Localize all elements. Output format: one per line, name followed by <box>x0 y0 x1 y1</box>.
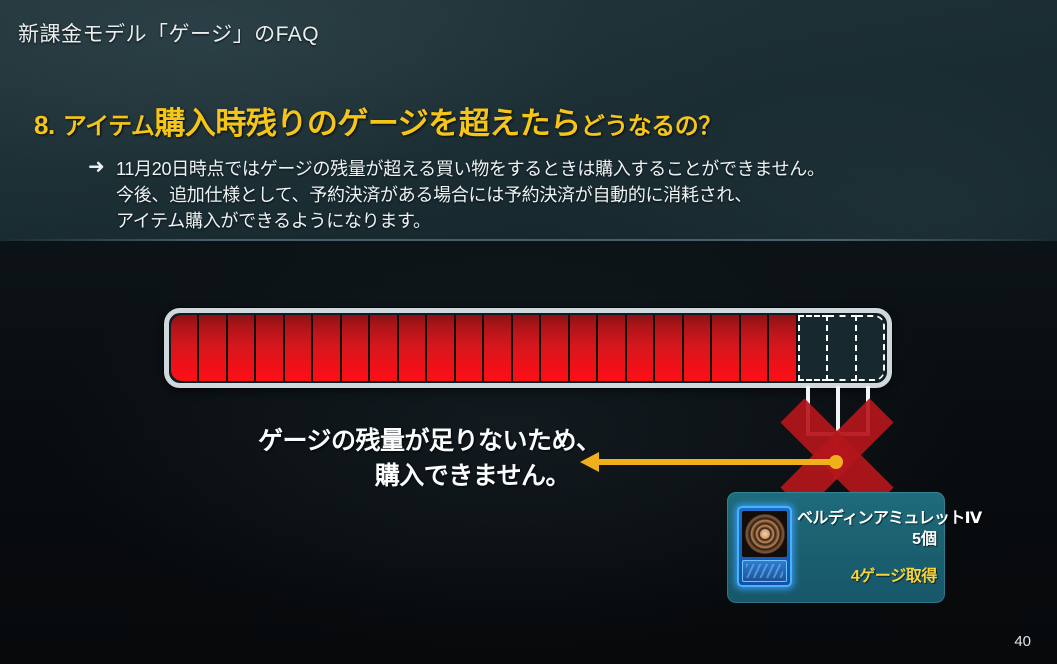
item-card[interactable]: ベルディンアミュレットⅣ 5個 4ゲージ取得 <box>727 492 945 603</box>
callout-line: 購入できません。 <box>258 459 570 494</box>
answer-line: 11月20日時点ではゲージの残量が超える買い物をするときは購入することができませ… <box>116 156 888 182</box>
gauge-segment-filled <box>256 315 284 381</box>
gauge-bar <box>164 308 892 388</box>
gauge-segment-filled <box>484 315 512 381</box>
gauge-segment-empty <box>798 315 828 381</box>
gauge-segment-filled <box>570 315 598 381</box>
page-title: 新課金モデル「ゲージ」のFAQ <box>18 18 319 48</box>
answer-lines: 11月20日時点ではゲージの残量が超える買い物をするときは購入することができませ… <box>116 156 888 234</box>
gauge-segment-filled <box>228 315 256 381</box>
amulet-card-icon-plate <box>742 560 787 582</box>
arrow-right-icon: ➜ <box>88 157 105 177</box>
question-main: 購入時残りのゲージを超えたら <box>154 106 580 141</box>
gauge-segment-filled <box>342 315 370 381</box>
gauge-segment-filled <box>199 315 227 381</box>
gauge-segment-filled <box>399 315 427 381</box>
amulet-card-icon <box>737 506 792 587</box>
header-panel: 新課金モデル「ゲージ」のFAQ 8. アイテム購入時残りのゲージを超えたらどうな… <box>0 0 1057 241</box>
gauge-segment-filled <box>370 315 398 381</box>
gauge-segment-filled <box>171 315 199 381</box>
gauge-segments <box>171 315 885 381</box>
gauge-segment-filled <box>285 315 313 381</box>
gauge-segment-empty <box>828 315 856 381</box>
gauge-segment-filled <box>684 315 712 381</box>
question-number: 8. <box>34 110 55 140</box>
gauge-segment-filled <box>313 315 341 381</box>
gauge-segment-filled <box>427 315 455 381</box>
item-gauge-cost: 4ゲージ取得 <box>797 562 937 586</box>
gauge-segment-filled <box>627 315 655 381</box>
gauge-segment-filled <box>456 315 484 381</box>
callout-arrow-line <box>596 459 836 465</box>
amulet-mandala-icon <box>745 514 785 554</box>
answer-line: アイテム購入ができるようになります。 <box>116 208 888 234</box>
gauge-segment-filled <box>769 315 797 381</box>
item-quantity: 5個 <box>797 525 937 549</box>
callout-text: ゲージの残量が足りないため、 購入できません。 <box>258 424 570 494</box>
gauge-segment-filled <box>513 315 541 381</box>
page-number: 40 <box>1014 633 1031 650</box>
slide-canvas: 新課金モデル「ゲージ」のFAQ 8. アイテム購入時残りのゲージを超えたらどうな… <box>0 0 1057 664</box>
answer-block: ➜ 11月20日時点ではゲージの残量が超える買い物をするときは購入することができ… <box>88 156 888 234</box>
gauge-segment-filled <box>741 315 769 381</box>
question-heading: 8. アイテム購入時残りのゲージを超えたらどうなるの？ <box>34 98 722 143</box>
callout-line: ゲージの残量が足りないため、 <box>258 424 570 459</box>
question-suffix: どうなるの？ <box>581 113 722 140</box>
gauge-segment-filled <box>541 315 569 381</box>
gauge-segment-empty <box>857 315 885 381</box>
callout-arrow-head-icon <box>580 452 599 472</box>
question-prefix: アイテム <box>63 113 155 140</box>
gauge-segment-filled <box>598 315 626 381</box>
gauge-segment-filled <box>712 315 740 381</box>
gauge-segment-filled <box>655 315 683 381</box>
answer-line: 今後、追加仕様として、予約決済がある場合には予約決済が自動的に消耗され、 <box>116 182 888 208</box>
